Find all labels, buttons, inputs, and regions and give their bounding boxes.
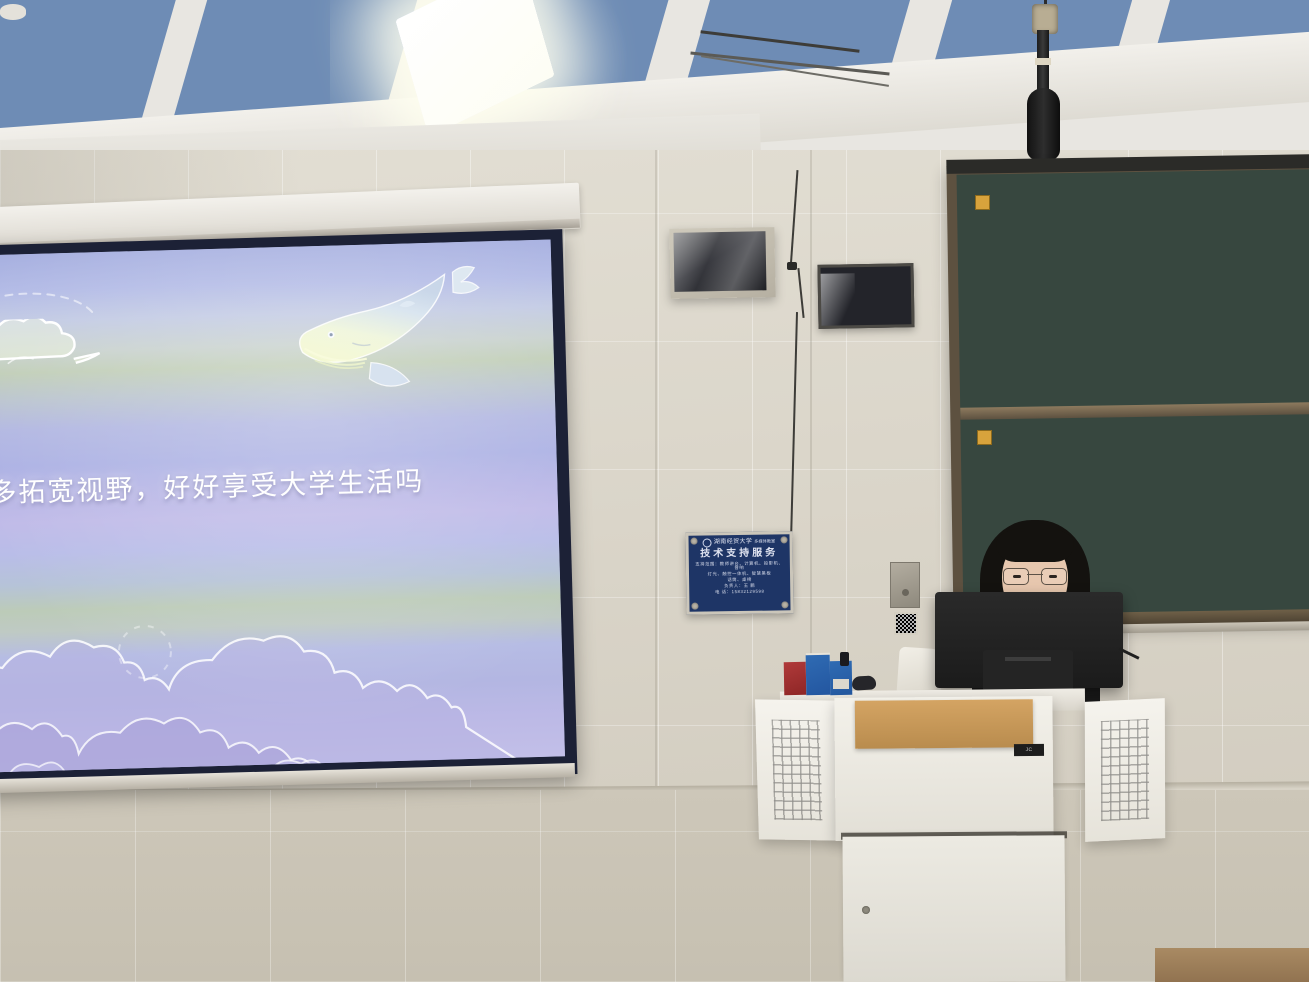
lectern-wood-panel <box>855 699 1033 749</box>
glasses-bridge <box>1027 574 1043 575</box>
marker-pen[interactable] <box>840 652 849 666</box>
panel-glare <box>821 273 856 326</box>
lens-left <box>1003 568 1029 585</box>
warning-sticker-icon <box>975 195 990 210</box>
projected-slide: ，要多拓宽视野，好好享受大学生活吗 <box>0 240 565 774</box>
eye-right <box>1049 575 1057 578</box>
eye-left <box>1013 575 1021 578</box>
sign-university: 湖南经贸大学 <box>714 539 752 546</box>
sign-screw <box>691 603 698 610</box>
sign-title: 技术支持服务 <box>693 548 786 560</box>
university-logo-icon <box>703 538 712 547</box>
lectern-brand-badge: JC <box>1014 744 1044 756</box>
sign-line-5: 电 话：15832129598 <box>693 589 786 595</box>
smoke-detector-icon <box>0 4 26 20</box>
technical-support-sign: 湖南经贸大学 多媒体教室 技术支持服务 支持范围：教师讲台、计算机、投影机、音响… <box>685 531 793 614</box>
ceiling-panel <box>0 0 182 130</box>
socket-hole <box>902 589 909 596</box>
enclosure-plastic-wrap <box>673 231 766 292</box>
red-box[interactable] <box>784 662 807 695</box>
sign-subtitle: 多媒体教室 <box>754 540 775 545</box>
eyeglasses-icon <box>1002 568 1068 584</box>
lectern-base-cabinet[interactable] <box>842 835 1065 982</box>
speaker-grille <box>772 720 823 821</box>
sign-line-1: 支持范围：教师讲台、计算机、投影机、音响 <box>693 561 786 571</box>
sign-screw <box>780 536 787 543</box>
qr-code-sticker <box>894 612 918 635</box>
sign-header: 湖南经贸大学 多媒体教室 <box>693 537 786 547</box>
computer-mouse[interactable] <box>852 675 877 690</box>
sign-screw <box>691 538 698 545</box>
brand-badge-text: JC <box>1026 747 1033 753</box>
speaker-grille <box>1101 719 1149 821</box>
sign-screw <box>781 601 788 608</box>
hair-fringe <box>996 528 1074 562</box>
projection-screen-frame: ，要多拓宽视野，好好享受大学生活吗 <box>0 229 577 792</box>
monitor-vent <box>1005 657 1051 661</box>
lectern-speaker-left <box>755 699 839 840</box>
wall-mounted-panel[interactable] <box>817 263 914 329</box>
microphone-ring <box>1035 58 1051 65</box>
lectern-speaker-right <box>1085 698 1165 842</box>
warning-sticker-icon <box>977 430 992 445</box>
blue-box[interactable] <box>806 655 831 695</box>
electrical-socket-plate[interactable] <box>890 562 920 608</box>
classroom-scene: 湖南经贸大学 多媒体教室 技术支持服务 支持范围：教师讲台、计算机、投影机、音响… <box>0 0 1309 982</box>
equipment-enclosure[interactable] <box>669 227 775 299</box>
sign-line-4: 负责人：王 鹏 <box>693 583 786 589</box>
wooden-floor <box>1155 948 1309 982</box>
lens-right <box>1041 568 1067 585</box>
hanging-microphone-icon[interactable] <box>1027 88 1060 160</box>
cabinet-lock-icon[interactable] <box>862 906 870 914</box>
blue-box-label <box>833 679 849 689</box>
cable-connector <box>787 262 797 270</box>
